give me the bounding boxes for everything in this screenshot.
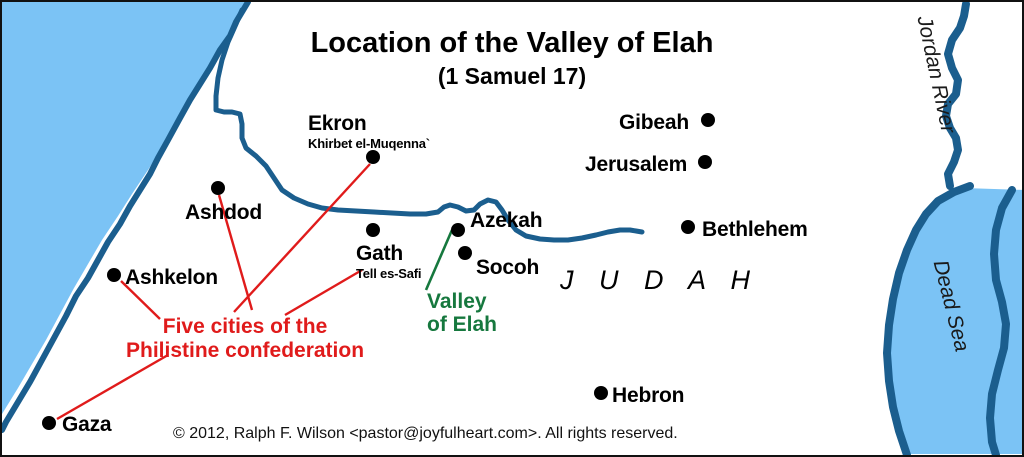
jordan-river-line [946,4,966,186]
inland-boundary-line [216,10,642,240]
city-dot-azekah[interactable] [451,223,465,237]
leader-line-gaza [57,355,168,419]
city-dot-hebron[interactable] [594,386,608,400]
city-dot-ashkelon[interactable] [107,268,121,282]
map-geometry-layer [2,2,1024,457]
city-dot-gath[interactable] [366,223,380,237]
city-dot-socoh[interactable] [458,246,472,260]
city-dot-ashdod[interactable] [211,181,225,195]
leader-line-valley-of-elah [426,230,452,290]
leader-line-gath [285,270,362,315]
leader-line-ashkelon [121,281,160,319]
leader-line-ashdod [219,195,252,310]
city-dot-bethlehem[interactable] [681,220,695,234]
city-dot-gaza[interactable] [42,416,56,430]
city-dot-ekron[interactable] [366,150,380,164]
city-dot-jerusalem[interactable] [698,155,712,169]
city-dot-gibeah[interactable] [701,113,715,127]
map-canvas: Location of the Valley of Elah (1 Samuel… [0,0,1024,457]
leader-line-ekron [234,164,370,312]
